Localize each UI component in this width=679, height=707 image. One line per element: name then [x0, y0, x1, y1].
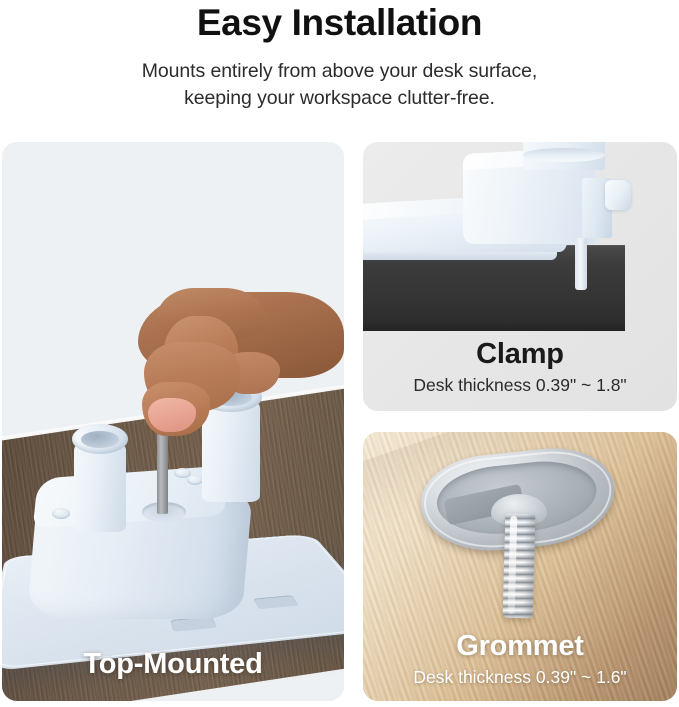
clamp-collar-ring	[523, 148, 605, 162]
subtitle-line-2: keeping your workspace clutter-free.	[0, 85, 679, 112]
page-title: Easy Installation	[0, 0, 679, 44]
caption-subtext: Desk thickness 0.39" ~ 1.6"	[363, 663, 677, 689]
header: Easy Installation Mounts entirely from a…	[0, 0, 679, 132]
caption-title: Clamp	[363, 337, 677, 371]
clamp-tension-screw	[575, 238, 587, 290]
caption-grommet: Grommet Desk thickness 0.39" ~ 1.6"	[363, 629, 677, 689]
desk-front-shadow	[363, 324, 625, 331]
panel-clamp: Clamp Desk thickness 0.39" ~ 1.8"	[363, 142, 677, 411]
hand	[120, 286, 344, 436]
subtitle-line-1: Mounts entirely from above your desk sur…	[0, 58, 679, 85]
caption-clamp: Clamp Desk thickness 0.39" ~ 1.8"	[363, 337, 677, 397]
page-subtitle: Mounts entirely from above your desk sur…	[0, 44, 679, 112]
caption-title: Top-Mounted	[2, 648, 344, 681]
clamp-upper-block	[463, 160, 595, 244]
infographic-page: Easy Installation Mounts entirely from a…	[0, 0, 679, 707]
thumb-nail	[148, 398, 196, 432]
clamp-side-knob	[605, 180, 631, 210]
caption-subtext: Desk thickness 0.39" ~ 1.8"	[363, 371, 677, 397]
panel-top-mounted: Top-Mounted	[2, 142, 344, 701]
screw-boss	[187, 475, 203, 485]
screw-boss	[52, 508, 70, 519]
caption-top-mounted: Top-Mounted	[2, 648, 344, 681]
mount-post-left	[74, 424, 126, 516]
panel-grommet: Grommet Desk thickness 0.39" ~ 1.6"	[363, 432, 677, 701]
post-bore	[81, 431, 118, 448]
caption-title: Grommet	[363, 629, 677, 663]
